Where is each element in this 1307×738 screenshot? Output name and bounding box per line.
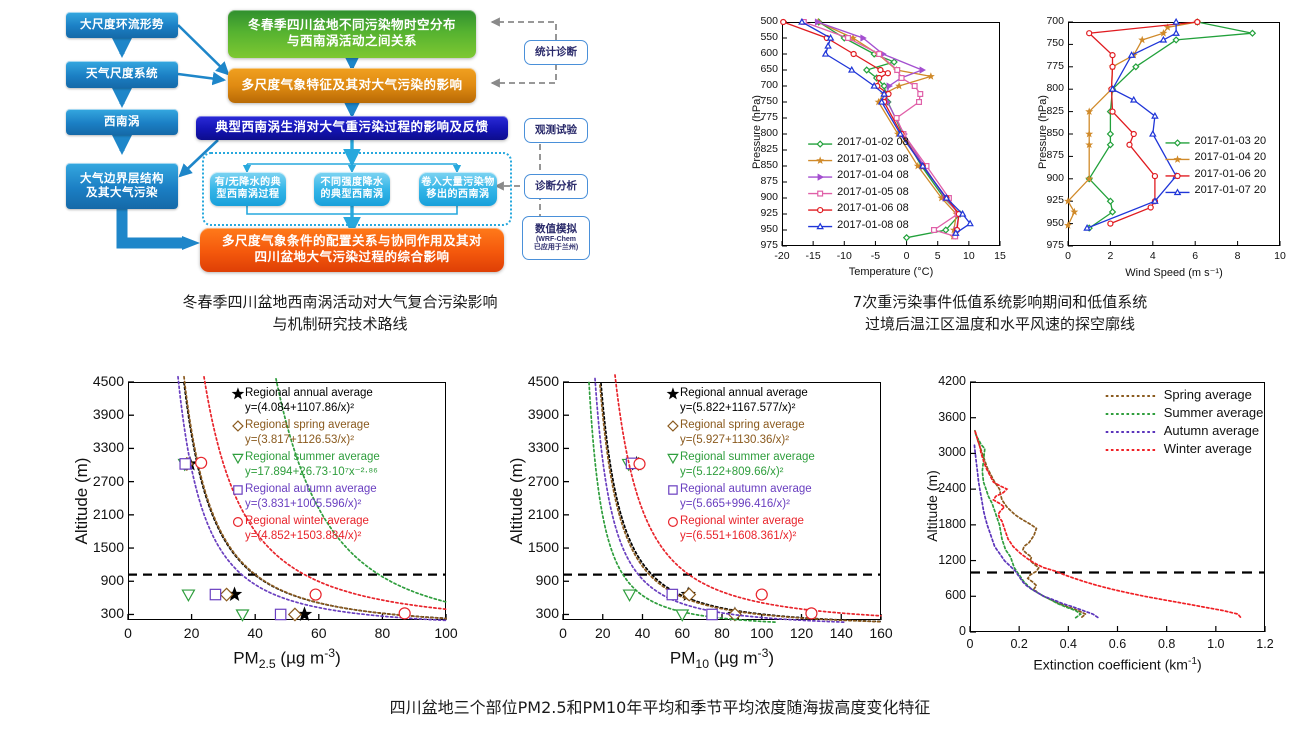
data-marker <box>1173 30 1179 35</box>
legend-label: Regional autumn average <box>680 483 812 495</box>
flow-box-boundary-layer: 大气边界层结构 及其大气污染 <box>66 163 178 209</box>
data-marker <box>895 68 900 73</box>
data-marker <box>1173 19 1179 24</box>
caption-flowchart: 冬春季四川盆地西南涡活动对大气复合污染影响 与机制研究技术路线 <box>40 292 640 336</box>
data-marker <box>667 589 677 599</box>
data-marker <box>1110 64 1115 69</box>
pm10-altitude-chart: 3009001500210027003300390045000204060801… <box>455 368 905 678</box>
legend-label: Regional summer average <box>680 451 815 463</box>
legend-equation: y=(6.551+1608.361/x)² <box>680 529 804 544</box>
data-marker <box>894 116 899 121</box>
caption-sounding: 7次重污染事件低值系统影响期间和低值系统 过境后温江区温度和水平风速的探空廓线 <box>700 292 1300 336</box>
flow-box-precip-vortex: 有/无降水的典 型西南涡过程 <box>210 172 286 206</box>
legend-entry: Regional autumn averagey=(5.665+996.416/… <box>680 482 812 511</box>
data-marker <box>918 92 923 97</box>
flow-box-pollutant-distribution: 冬春季四川盆地不同污染物时空分布 与西南涡活动之间关系 <box>228 10 476 58</box>
data-marker <box>669 486 677 494</box>
flow-box-vortex-pollution-feedback: 典型西南涡生消对大气重污染过程的影响及反馈 <box>196 116 508 140</box>
data-marker <box>817 157 823 163</box>
legend-label: Regional spring average <box>680 419 805 431</box>
data-marker <box>877 75 882 80</box>
legend-label: Spring average <box>1164 387 1252 402</box>
legend-label: 2017-01-07 20 <box>1195 184 1267 196</box>
data-marker <box>920 67 925 73</box>
data-marker <box>275 609 285 619</box>
data-marker <box>1110 53 1115 58</box>
data-marker <box>1108 221 1113 226</box>
data-marker <box>1195 19 1200 24</box>
data-marker <box>823 51 829 56</box>
data-marker <box>196 457 207 468</box>
data-marker <box>817 141 823 147</box>
legend-label: 2017-01-08 08 <box>837 219 909 231</box>
data-marker <box>851 51 856 56</box>
data-marker <box>818 208 823 213</box>
data-marker <box>1175 140 1181 146</box>
legend-label: 2017-01-06 20 <box>1195 168 1267 180</box>
legend-equation: y=17.894+26.73·10⁷x⁻²·⁸⁶ <box>245 465 380 480</box>
data-marker <box>624 590 636 601</box>
data-marker <box>289 608 301 620</box>
data-marker <box>781 19 786 24</box>
data-marker <box>1174 156 1180 162</box>
legend-label: Regional annual average <box>680 387 808 399</box>
legend-label: 2017-01-04 20 <box>1195 151 1267 163</box>
data-marker <box>399 608 410 619</box>
data-marker <box>1110 109 1115 114</box>
y-axis-label: Pressure (hPa) <box>1037 89 1049 175</box>
legend-label: Summer average <box>1164 405 1264 420</box>
legend-entry: Regional winter averagey=(4.852+1503.884… <box>245 514 369 543</box>
technical-roadmap-flowchart: 大尺度环流形势 天气尺度系统 西南涡 大气边界层结构 及其大气污染 冬春季四川盆… <box>0 0 660 285</box>
data-marker <box>1175 190 1181 195</box>
series-2017-01-04 20 <box>1065 19 1201 228</box>
data-marker <box>818 191 823 196</box>
data-marker <box>182 590 194 601</box>
legend-equation: y=(5.665+996.416/x)² <box>680 497 812 512</box>
legend-equation: y=(4.852+1503.884/x)² <box>245 529 369 544</box>
legend-entry: Regional winter averagey=(6.551+1608.361… <box>680 514 804 543</box>
data-marker <box>817 224 823 229</box>
legend-equation: y=(3.831+1005.596/x)² <box>245 497 377 512</box>
data-marker <box>668 421 678 431</box>
temperature-profile-chart: 5005506006507007507758008258508759009259… <box>726 10 1016 290</box>
data-marker <box>1127 142 1132 147</box>
side-box-observation-experiment: 观测试验 <box>524 118 588 143</box>
data-marker <box>233 421 243 431</box>
data-marker <box>1175 173 1180 178</box>
data-marker <box>707 609 717 619</box>
data-marker <box>1108 142 1114 148</box>
side-box-statistical-diagnosis: 统计诊断 <box>524 40 588 65</box>
legend-label: 2017-01-03 08 <box>837 153 909 165</box>
data-marker <box>669 518 678 527</box>
data-marker <box>917 100 922 105</box>
series-2017-01-07 20 <box>1084 19 1179 230</box>
x-axis-label: PM2.5 (µg m-3) <box>128 646 446 671</box>
legend-entry: Regional summer averagey=17.894+26.73·10… <box>245 450 380 479</box>
legend-entry: Regional summer averagey=(5.122+809.66/x… <box>680 450 815 479</box>
data-marker <box>667 388 678 398</box>
x-axis-label: Wind Speed (m s⁻¹) <box>1068 266 1280 279</box>
legend-label: Regional annual average <box>245 387 373 399</box>
data-marker <box>310 589 321 600</box>
legend-label: Autumn average <box>1164 423 1259 438</box>
legend-entry: Regional annual averagey=(5.822+1167.577… <box>680 386 808 415</box>
legend-label: Regional spring average <box>245 419 370 431</box>
legend-label: 2017-01-06 08 <box>837 202 909 214</box>
x-axis-label: PM10 (µg m-3) <box>563 646 881 671</box>
legend-equation: y=(4.084+1107.86/x)² <box>245 401 373 416</box>
side-box-numerical-simulation: 数值模拟 (WRF-Chem 已应用于兰州) <box>522 216 590 260</box>
legend-label: Regional winter average <box>245 515 369 527</box>
flow-box-multiscale-meteorology: 多尺度气象特征及其对大气污染的影响 <box>228 68 476 103</box>
data-marker <box>233 454 243 463</box>
legend-equation: y=(5.822+1167.577/x)² <box>680 401 808 416</box>
legend-equation: y=(3.817+1126.53/x)² <box>245 433 370 448</box>
legend-label: Regional winter average <box>680 515 804 527</box>
data-marker <box>885 71 890 76</box>
data-marker <box>236 610 248 621</box>
legend-label: 2017-01-05 08 <box>837 186 909 198</box>
extinction-coefficient-chart: 060012001800240030003600420000.20.40.60.… <box>900 368 1300 678</box>
data-marker <box>634 458 645 469</box>
wind-speed-profile-chart: 7007507758008258508759009259509750246810… <box>1012 10 1300 290</box>
legend-label: Winter average <box>1164 441 1252 456</box>
data-marker <box>1250 30 1256 36</box>
data-marker <box>877 52 882 57</box>
data-marker <box>825 43 831 48</box>
legend-entry: Regional autumn averagey=(3.831+1005.596… <box>245 482 377 511</box>
data-marker <box>1148 205 1153 210</box>
data-marker <box>676 610 688 621</box>
flow-box-intensity-vortex: 不同强度降水 的典型西南涡 <box>314 172 390 206</box>
x-axis-label: Extinction coefficient (km-1) <box>970 656 1265 673</box>
data-marker <box>912 84 917 89</box>
caption-bottom: 四川盆地三个部位PM2.5和PM10年平均和季节平均浓度随海拔高度变化特征 <box>150 694 1170 718</box>
data-marker <box>232 388 243 398</box>
y-axis-label: Altitude (m) <box>507 441 527 561</box>
flow-box-large-scale-circulation: 大尺度环流形势 <box>66 12 178 38</box>
y-axis-label: Altitude (m) <box>72 441 92 561</box>
series-2017-01-06 08 <box>781 19 962 232</box>
series-2017-01-03 20 <box>1086 19 1255 231</box>
legend-equation: y=(5.122+809.66/x)² <box>680 465 815 480</box>
data-marker <box>904 235 910 241</box>
y-axis-label: Altitude (m) <box>924 456 940 556</box>
data-marker <box>756 589 767 600</box>
flow-box-southwest-vortex: 西南涡 <box>66 109 178 135</box>
legend-entry: Regional spring averagey=(5.927+1130.36/… <box>680 418 805 447</box>
legend-entry: Regional annual averagey=(4.084+1107.86/… <box>245 386 373 415</box>
data-marker <box>1131 131 1136 136</box>
data-marker <box>668 454 678 463</box>
legend-label: 2017-01-04 08 <box>837 169 909 181</box>
data-marker <box>899 76 904 81</box>
series-2017-01-06 20 <box>1087 19 1200 226</box>
data-marker <box>818 174 823 180</box>
legend-label: Regional autumn average <box>245 483 377 495</box>
legend-label: Regional summer average <box>245 451 380 463</box>
side-box-numerical-simulation-title: 数值模拟 <box>535 223 577 236</box>
side-box-diagnostic-analysis: 诊断分析 <box>524 174 588 199</box>
data-marker <box>234 518 243 527</box>
data-marker <box>1087 31 1092 36</box>
flow-box-pollutant-transport-vortex: 卷入大量污染物 移出的西南涡 <box>419 172 497 206</box>
data-marker <box>846 36 851 41</box>
data-marker <box>1150 131 1156 136</box>
data-marker <box>932 228 937 233</box>
data-marker <box>878 67 883 72</box>
legend-equation: y=(5.927+1130.36/x)² <box>680 433 805 448</box>
y-axis-label: Pressure (hPa) <box>751 89 763 175</box>
flow-box-comprehensive-impact: 多尺度气象条件的配置关系与协同作用及其对 四川盆地大气污染过程的综合影响 <box>200 228 504 272</box>
data-marker <box>1071 209 1077 215</box>
data-marker <box>1152 174 1157 179</box>
data-marker <box>849 67 855 72</box>
series-Regional summer average <box>623 459 689 620</box>
legend-label: 2017-01-02 08 <box>837 136 909 148</box>
data-marker <box>1161 37 1167 42</box>
data-marker <box>1065 222 1071 228</box>
legend-entry: Regional spring averagey=(3.817+1126.53/… <box>245 418 370 447</box>
data-marker <box>806 608 817 619</box>
data-marker <box>1131 97 1137 102</box>
data-marker <box>1139 37 1145 43</box>
side-box-numerical-simulation-note: (WRF-Chem 已应用于兰州) <box>534 236 578 253</box>
data-marker <box>210 589 220 599</box>
pm25-altitude-chart: 3009001500210027003300390045000204060801… <box>20 368 470 678</box>
data-marker <box>1108 131 1114 137</box>
x-axis-label: Temperature (°C) <box>782 266 1000 278</box>
data-marker <box>234 486 242 494</box>
data-marker <box>928 73 934 79</box>
flow-box-synoptic-system: 天气尺度系统 <box>66 61 178 88</box>
data-marker <box>180 459 190 469</box>
legend-label: 2017-01-03 20 <box>1195 135 1267 147</box>
